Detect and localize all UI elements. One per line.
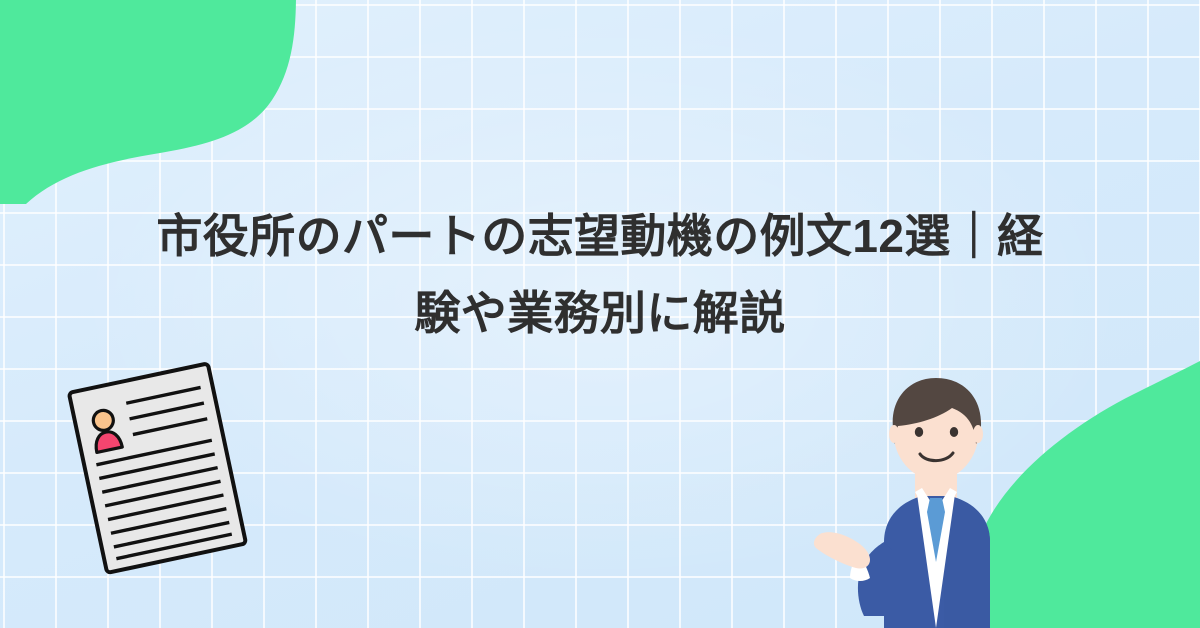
document-page	[69, 363, 246, 573]
page-title-line-1: 市役所のパートの志望動機の例文12選｜経	[110, 198, 1090, 275]
person-ear-left	[889, 425, 899, 443]
businessman-illustration	[812, 366, 1062, 628]
cover-image-canvas: 市役所のパートの志望動機の例文12選｜経 験や業務別に解説	[0, 0, 1200, 628]
person-ear-right	[973, 425, 983, 443]
person-eye-right	[950, 427, 958, 437]
page-title: 市役所のパートの志望動機の例文12選｜経 験や業務別に解説	[0, 198, 1200, 352]
person-open-hand	[814, 532, 870, 568]
person-eye-left	[915, 427, 923, 437]
resume-document-illustration	[48, 352, 268, 580]
page-title-line-2: 験や業務別に解説	[110, 275, 1090, 352]
